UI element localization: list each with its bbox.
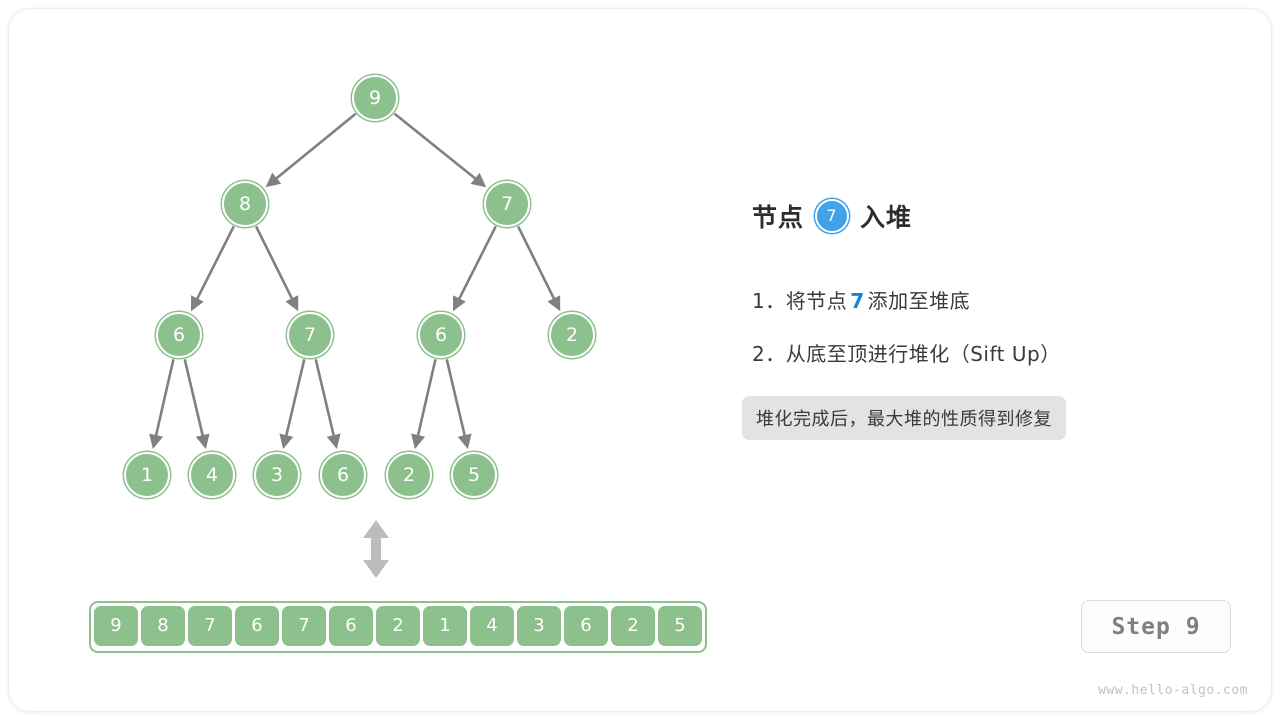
- heap-array: 9876762143625: [89, 601, 707, 653]
- tree-edge: [185, 359, 206, 446]
- tree-edge: [267, 114, 355, 186]
- array-cell: 2: [611, 606, 655, 646]
- tree-edge: [415, 359, 435, 446]
- tree-edge: [447, 359, 468, 446]
- tree-node: 9: [352, 75, 398, 121]
- tree-node: 6: [156, 312, 202, 358]
- step-1-prefix: 1．将节点: [752, 289, 847, 313]
- tree-node: 4: [189, 452, 235, 498]
- panel-title: 节点 7 入堆: [752, 196, 1222, 236]
- tree-node: 3: [254, 452, 300, 498]
- tree-node: 7: [484, 181, 530, 227]
- highlighted-node-badge: 7: [815, 199, 849, 233]
- tree-node: 2: [386, 452, 432, 498]
- step-badge: Step 9: [1081, 600, 1231, 653]
- step-item-1: 1．将节点7添加至堆底: [752, 285, 970, 314]
- array-cell: 7: [282, 606, 326, 646]
- watermark: www.hello-algo.com: [1098, 683, 1248, 698]
- tree-node: 6: [418, 312, 464, 358]
- array-cell: 3: [517, 606, 561, 646]
- array-cell: 1: [423, 606, 467, 646]
- tree-node: 7: [287, 312, 333, 358]
- tree-node: 1: [124, 452, 170, 498]
- binary-tree-diagram: 9876762143625: [0, 0, 730, 560]
- step-1-suffix: 添加至堆底: [868, 289, 971, 313]
- array-cell: 6: [564, 606, 608, 646]
- step-1-value: 7: [847, 289, 867, 313]
- tree-edge-group: [153, 114, 559, 447]
- illustration-canvas: 9876762143625 9876762143625 节点 7 入堆 1．将节…: [0, 0, 1280, 720]
- step-item-2: 2．从底至顶进行堆化（Sift Up）: [752, 338, 1061, 367]
- double-arrow-icon: [358, 518, 394, 580]
- tree-edge: [256, 226, 297, 309]
- tree-edge: [454, 226, 496, 309]
- explanation-panel: 节点 7 入堆 1．将节点7添加至堆底 2．从底至顶进行堆化（Sift Up） …: [752, 196, 1222, 236]
- panel-title-suffix: 入堆: [860, 198, 912, 234]
- array-cell: 4: [470, 606, 514, 646]
- array-cell: 8: [141, 606, 185, 646]
- panel-title-prefix: 节点: [752, 198, 804, 234]
- tree-edge: [284, 359, 305, 446]
- tree-edge: [394, 114, 484, 186]
- tree-node: 2: [549, 312, 595, 358]
- tree-node: 5: [451, 452, 497, 498]
- tree-edge: [518, 226, 559, 309]
- array-cell: 2: [376, 606, 420, 646]
- tree-node: 6: [320, 452, 366, 498]
- tree-edge: [153, 359, 173, 446]
- array-cell: 5: [658, 606, 702, 646]
- array-cell: 6: [235, 606, 279, 646]
- array-cell: 7: [188, 606, 232, 646]
- array-cell: 9: [94, 606, 138, 646]
- result-note: 堆化完成后，最大堆的性质得到修复: [742, 396, 1066, 440]
- tree-node: 8: [222, 181, 268, 227]
- tree-edge: [316, 359, 337, 446]
- array-cell: 6: [329, 606, 373, 646]
- tree-edge: [192, 226, 234, 309]
